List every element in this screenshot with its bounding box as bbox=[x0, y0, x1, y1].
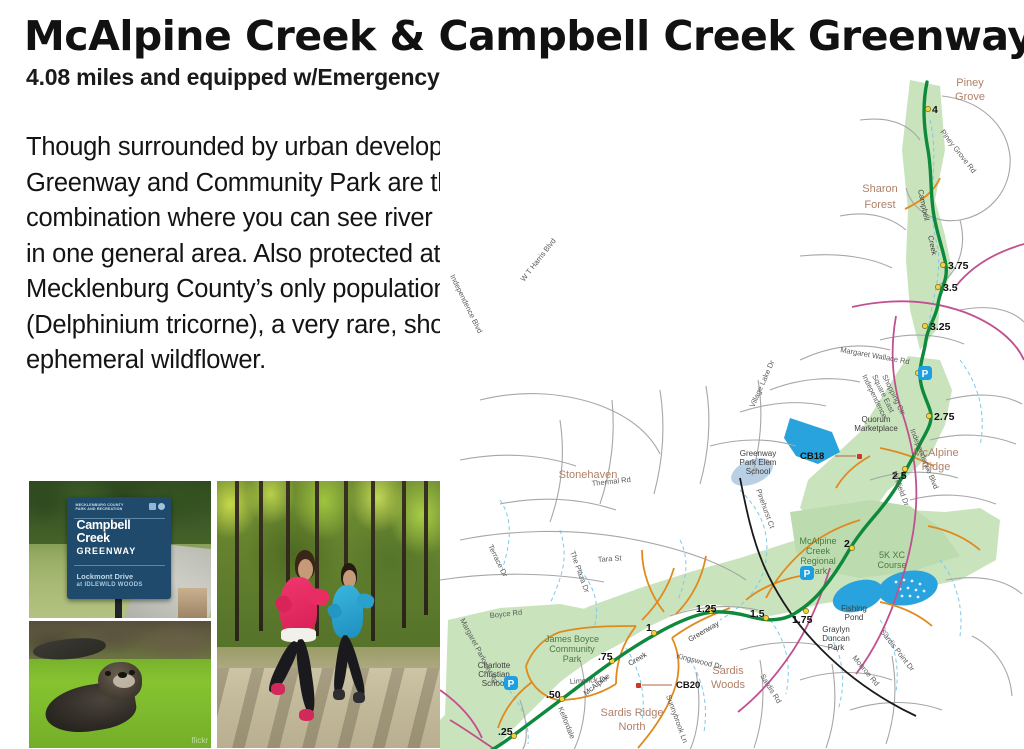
svg-text:Greenway: Greenway bbox=[740, 449, 776, 458]
page-title: McAlpine Creek & Campbell Creek Greenway bbox=[24, 14, 1014, 58]
sign-greenway-name: Campbell Creek GREENWAY bbox=[77, 519, 166, 558]
svg-text:2: 2 bbox=[844, 538, 850, 550]
otter-photo-background: flickr bbox=[29, 621, 211, 748]
svg-text:P: P bbox=[804, 569, 811, 580]
svg-text:CB20: CB20 bbox=[676, 680, 700, 691]
svg-text:North: North bbox=[619, 721, 646, 733]
svg-text:1.25: 1.25 bbox=[696, 603, 717, 615]
svg-text:Creek: Creek bbox=[627, 650, 649, 668]
svg-text:Course: Course bbox=[877, 560, 906, 570]
svg-text:Sardis Point Dr: Sardis Point Dr bbox=[878, 628, 916, 674]
runner-pink bbox=[273, 556, 349, 732]
poster-page: McAlpine Creek & Campbell Creek Greenway… bbox=[0, 0, 1024, 749]
svg-text:Duncan: Duncan bbox=[822, 634, 850, 643]
sign-name-line-2: Creek bbox=[77, 532, 166, 545]
svg-text:Sardis Ridge: Sardis Ridge bbox=[601, 707, 664, 719]
svg-text:Village Lake Dr: Village Lake Dr bbox=[748, 358, 777, 408]
svg-text:2.75: 2.75 bbox=[934, 411, 955, 423]
campbell-creek-greenway-sign-photo: MECKLENBURG COUNTY PARK AND RECREATION C… bbox=[29, 481, 211, 618]
runners-photo-background bbox=[217, 481, 440, 748]
svg-text:1.5: 1.5 bbox=[750, 608, 765, 620]
svg-text:Tara St: Tara St bbox=[598, 553, 623, 564]
svg-text:Fishing: Fishing bbox=[841, 604, 867, 613]
river-otter-photo: flickr bbox=[29, 621, 211, 748]
svg-text:3.25: 3.25 bbox=[930, 321, 951, 333]
svg-text:Park Elem: Park Elem bbox=[740, 458, 777, 467]
svg-text:.75: .75 bbox=[598, 651, 613, 663]
svg-text:P: P bbox=[508, 679, 515, 690]
svg-text:The Plaza Dr: The Plaza Dr bbox=[568, 550, 592, 595]
parking-icon: P bbox=[918, 366, 932, 380]
sign-photo-curb bbox=[178, 588, 207, 618]
tree-trunk-8 bbox=[424, 481, 428, 615]
svg-text:Kelfordale: Kelfordale bbox=[556, 705, 577, 740]
sign-name-line-3: GREENWAY bbox=[77, 545, 166, 558]
tree-trunk-7 bbox=[402, 481, 406, 628]
sign-name-line-1: Campbell bbox=[77, 519, 166, 532]
svg-text:Piney: Piney bbox=[956, 77, 984, 89]
svg-text:W T Harris Blvd: W T Harris Blvd bbox=[518, 237, 557, 284]
svg-text:1.75: 1.75 bbox=[792, 614, 813, 626]
svg-text:School: School bbox=[746, 467, 771, 476]
tree-trunk-1 bbox=[235, 481, 239, 641]
svg-text:Kingswood Dr: Kingswood Dr bbox=[676, 651, 724, 671]
sign-location-area: at IDLEWILD WOODS bbox=[77, 581, 166, 590]
map-canvas[interactable]: 4 3.75 3.5 3.25 3 2.75 2.5 2 1.75 1.5 1.… bbox=[440, 60, 1024, 749]
svg-text:P: P bbox=[922, 369, 929, 380]
sign-divider-bottom bbox=[74, 565, 164, 566]
svg-text:Pinehurst Ct: Pinehurst Ct bbox=[754, 488, 777, 531]
svg-text:4: 4 bbox=[932, 104, 938, 116]
sign-photo-background: MECKLENBURG COUNTY PARK AND RECREATION C… bbox=[29, 481, 211, 618]
svg-text:Independence Blvd: Independence Blvd bbox=[448, 273, 484, 335]
svg-text:Woods: Woods bbox=[711, 679, 746, 691]
svg-text:.50: .50 bbox=[546, 689, 561, 701]
svg-text:Sunnybrook Ln: Sunnybrook Ln bbox=[664, 694, 690, 744]
svg-text:5K XC: 5K XC bbox=[879, 550, 906, 560]
svg-text:Graylyn: Graylyn bbox=[822, 625, 850, 634]
svg-text:Pond: Pond bbox=[845, 613, 864, 622]
tree-trunk-2 bbox=[259, 481, 263, 631]
svg-text:Community: Community bbox=[549, 644, 595, 654]
sign-department-header: MECKLENBURG COUNTY PARK AND RECREATION bbox=[76, 503, 165, 517]
parking-icon: P bbox=[800, 566, 814, 580]
svg-text:Terrace Dr: Terrace Dr bbox=[486, 543, 510, 579]
svg-text:Sharon: Sharon bbox=[862, 183, 897, 195]
svg-text:Forest: Forest bbox=[864, 199, 895, 211]
svg-text:1: 1 bbox=[646, 622, 652, 634]
svg-text:McAlpine: McAlpine bbox=[799, 536, 836, 546]
svg-text:.25: .25 bbox=[498, 726, 513, 738]
svg-text:Grove: Grove bbox=[955, 91, 985, 103]
svg-text:Margaret Wallace Rd: Margaret Wallace Rd bbox=[840, 345, 911, 366]
svg-text:Regional: Regional bbox=[800, 556, 836, 566]
runners-on-greenway-photo bbox=[217, 481, 440, 748]
svg-text:Greenway: Greenway bbox=[687, 619, 721, 644]
svg-text:James Boyce: James Boyce bbox=[545, 634, 599, 644]
sign-location: Lockmont Drive at IDLEWILD WOODS bbox=[77, 572, 166, 590]
sign-location-street: Lockmont Drive bbox=[77, 572, 166, 581]
otter-photo-watermark: flickr bbox=[192, 736, 208, 745]
svg-text:3.75: 3.75 bbox=[948, 260, 969, 272]
sign-agency-logos bbox=[149, 503, 165, 510]
parking-icon: P bbox=[504, 676, 518, 690]
svg-text:Park: Park bbox=[563, 654, 582, 664]
svg-text:Marketplace: Marketplace bbox=[854, 424, 898, 433]
map-parkland-layer bbox=[440, 80, 1000, 749]
svg-text:3.5: 3.5 bbox=[943, 282, 958, 294]
greenway-trail-map[interactable]: 4 3.75 3.5 3.25 3 2.75 2.5 2 1.75 1.5 1.… bbox=[440, 60, 1024, 749]
svg-text:Creek: Creek bbox=[806, 546, 831, 556]
svg-text:Park: Park bbox=[828, 643, 845, 652]
svg-text:CB18: CB18 bbox=[800, 451, 824, 462]
trailhead-sign-board: MECKLENBURG COUNTY PARK AND RECREATION C… bbox=[67, 497, 171, 598]
